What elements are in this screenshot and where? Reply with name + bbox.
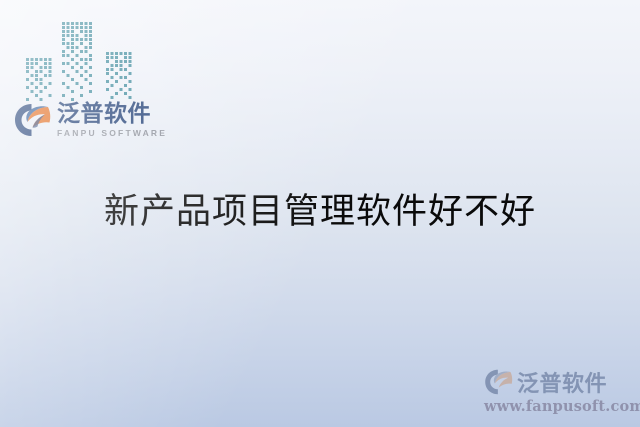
watermark-brand-row: 泛普软件 [484,367,632,397]
brand-name-cn: 泛普软件 [57,103,167,126]
watermark-name: 泛普软件 [517,366,607,398]
watermark-url: www.fanpusoft.com [484,398,632,415]
page-title: 新产品项目管理软件好不好 [0,192,640,233]
brand-wordmark: 泛普软件 FANPU SOFTWARE [57,103,167,138]
pixel-skyline-icon [26,22,142,104]
brand-name-en: FANPU SOFTWARE [57,129,167,138]
watermark: 泛普软件 www.fanpusoft.com [484,367,632,415]
fanpu-swoosh-logo-icon [14,103,52,137]
fanpu-swoosh-watermark-icon [484,369,514,395]
brand-logo: 泛普软件 FANPU SOFTWARE [14,100,167,140]
slide-canvas: 泛普软件 FANPU SOFTWARE 新产品项目管理软件好不好 泛普软件 ww… [0,0,640,427]
